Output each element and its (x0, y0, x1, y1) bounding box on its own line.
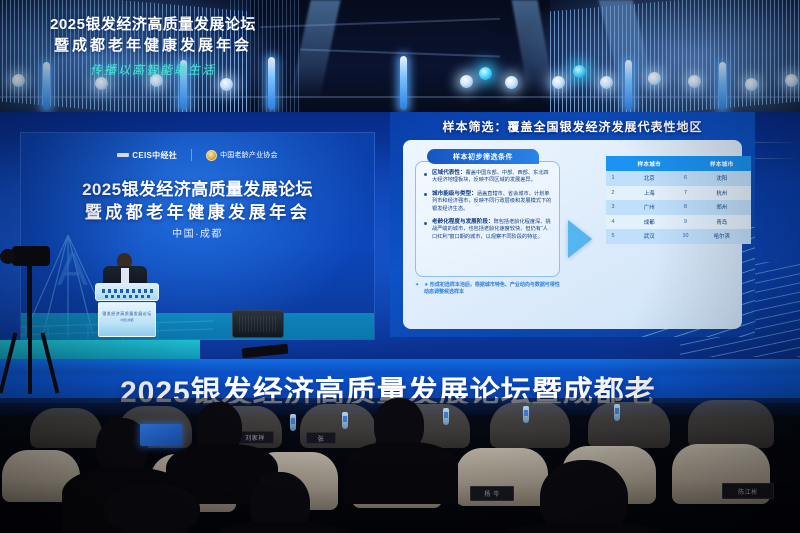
chair (30, 408, 102, 448)
table-row: 2 上海 7 杭州 (606, 186, 751, 201)
conference-hall-photo: 2025银发经济高质量发展论坛 暨成都老年健康发展年会 传播以高智能助生活 A … (0, 0, 800, 533)
association-logo-text: 中国老龄产业协会 (220, 150, 278, 160)
camera-lens-icon (0, 249, 16, 264)
criteria-term: 区域代表性： (432, 170, 466, 176)
nameplate-text: 刘家祥 (245, 433, 265, 442)
hanging-banner: 2025银发经济高质量发展论坛 暨成都老年健康发展年会 传播以高智能助生活 (28, 8, 278, 86)
stage-monitor-speaker (232, 310, 284, 338)
row-city-right: 哈尔滨 (693, 229, 752, 244)
podium-top-panel (95, 283, 159, 301)
podium-top-text (102, 289, 154, 293)
table-col-index-1 (606, 156, 620, 171)
criteria-term: 城市能级与类型： (432, 191, 477, 197)
criteria-panel-header-text: 样本初步筛选条件 (453, 152, 513, 162)
table-row: 5 武汉 10 哈尔滨 (606, 229, 751, 244)
screen-logo-row: CEIS中经社 中国老龄产业协会 (21, 147, 374, 163)
row-city-left: 上海 (620, 186, 679, 201)
podium-label: 银发经济高质量发展论坛 (99, 311, 155, 317)
stage-spotlight (648, 72, 661, 85)
left-screen-title-line1: 2025银发经济高质量发展论坛 (21, 175, 374, 200)
row-index-left: 4 (606, 215, 620, 230)
row-index-left: 1 (606, 171, 620, 186)
chair (490, 402, 570, 448)
row-index-right: 9 (679, 215, 693, 230)
nameplate: 杨 岑 (470, 486, 514, 501)
association-seal-icon (206, 150, 217, 161)
nameplate: 张 (306, 432, 336, 444)
row-city-left: 成都 (620, 215, 679, 230)
stage-spotlight (12, 74, 25, 87)
criteria-item: 区域代表性：覆盖中国东部、中部、西部、东北四大经济地理板块，反映不同区域的发展差… (423, 170, 552, 185)
table-header: 样本城市 样本城市 (606, 156, 751, 171)
stage-spotlight (552, 76, 565, 89)
row-city-right: 杭州 (693, 186, 752, 201)
logo-divider (191, 149, 192, 161)
chair (588, 402, 670, 448)
row-index-right: 10 (679, 229, 693, 244)
criteria-item: 城市能级与类型：涵盖直辖市、省会城市、计划单列市和经济强市，反映不同行政层级和发… (423, 191, 552, 213)
hanging-banner-line3: 传播以高智能助生活 (28, 61, 278, 78)
tripod-leg (28, 332, 32, 394)
water-bottle (523, 406, 529, 423)
row-city-left: 武汉 (620, 229, 679, 244)
row-index-left: 5 (606, 229, 620, 244)
table-col-index-2 (679, 156, 693, 171)
row-city-right: 青岛 (693, 215, 752, 230)
row-index-left: 3 (606, 200, 620, 215)
left-screen-title-line2: 暨成都老年健康发展年会 (21, 198, 374, 223)
left-screen-bottom-band (21, 313, 374, 339)
left-screen-location: 中国·成都 (21, 225, 374, 240)
water-bottle (342, 412, 348, 429)
audience-shoulders (212, 522, 352, 533)
video-camera-rig (0, 236, 64, 396)
audience-shoulders (500, 522, 670, 533)
table-header-row: 样本城市 样本城市 (606, 156, 751, 171)
audience-seating-area: 刘家祥 张 张 岑 陈江彬 杨 岑 (0, 398, 800, 533)
stage-spotlight (745, 78, 758, 91)
camera-body (12, 246, 50, 266)
stage-spotlight (785, 74, 798, 87)
criteria-footnote: ★ 形成初选样本池后，根据城市特色、产业动向与数据可得性动态调整候选样本 (415, 282, 560, 296)
nameplate-text: 陈江彬 (738, 487, 758, 496)
led-tube-light (625, 60, 632, 110)
slide-title: 样本筛选：覆盖全国银发经济发展代表性地区 (390, 118, 755, 135)
row-index-right: 7 (679, 186, 693, 201)
table-col-city-2: 样本城市 (693, 156, 752, 171)
ceis-logo-icon: CEIS中经社 (117, 150, 177, 161)
row-index-right: 8 (679, 200, 693, 215)
tripod-leg (0, 332, 17, 393)
audience-head (104, 484, 200, 533)
water-bottle (614, 404, 620, 421)
row-city-left: 广州 (620, 200, 679, 215)
led-tube-light (400, 56, 407, 110)
row-city-left: 北京 (620, 171, 679, 186)
podium-with-speaker: 银发经济高质量发展论坛 中国·成都 (95, 255, 159, 337)
ceiling-area: 2025银发经济高质量发展论坛 暨成都老年健康发展年会 传播以高智能助生活 (0, 0, 800, 112)
tripod-column (27, 264, 32, 338)
criteria-list: 区域代表性：覆盖中国东部、中部、西部、东北四大经济地理板块，反映不同区域的发展差… (415, 161, 560, 277)
podium-top-text-2 (105, 295, 151, 298)
nameplate-text: 杨 岑 (484, 489, 499, 498)
speaker-shirt (121, 268, 129, 284)
row-city-right: 郑州 (693, 200, 752, 215)
row-city-right: 沈阳 (693, 171, 752, 186)
table-row: 1 北京 6 沈阳 (606, 171, 751, 186)
audience-shoulders (344, 442, 458, 504)
tripod-leg (41, 332, 60, 393)
nameplate-text: 张 (318, 434, 325, 443)
smartphone-screen (140, 424, 182, 446)
stage-spotlight (479, 67, 492, 80)
podium-front-panel: 银发经济高质量发展论坛 中国·成都 (98, 302, 156, 337)
stage-spotlight (688, 75, 701, 88)
table-row: 4 成都 9 青岛 (606, 215, 751, 230)
nameplate: 陈江彬 (722, 483, 774, 499)
ceis-logo-text: CEIS中经社 (132, 150, 177, 161)
table-body: 1 北京 6 沈阳 2 上海 7 杭州 3 广州 8 (606, 171, 751, 244)
water-bottle (290, 414, 296, 431)
row-index-right: 6 (679, 171, 693, 186)
stage-spotlight (505, 76, 518, 89)
stage-spotlight (460, 75, 473, 88)
hanging-banner-line2: 暨成都老年健康发展年会 (28, 35, 278, 57)
hanging-banner-line1: 2025银发经济高质量发展论坛 (28, 15, 278, 35)
water-bottle (443, 408, 449, 425)
sample-cities-table: 样本城市 样本城市 1 北京 6 沈阳 2 上海 7 (606, 156, 751, 244)
arrow-right-icon (568, 220, 592, 258)
slide-content-card: 样本初步筛选条件 区域代表性：覆盖中国东部、中部、西部、东北四大经济地理板块，反… (403, 140, 742, 329)
association-logo-icon: 中国老龄产业协会 (206, 150, 278, 161)
stage-spotlight (600, 76, 613, 89)
podium-sublabel: 中国·成都 (99, 318, 155, 322)
row-index-left: 2 (606, 186, 620, 201)
ceis-logo-mark (117, 153, 129, 157)
criteria-term: 老龄化程度与发展阶段： (432, 219, 494, 225)
table-row: 3 广州 8 郑州 (606, 200, 751, 215)
table-col-city-1: 样本城市 (620, 156, 679, 171)
led-tube-light (719, 62, 726, 110)
right-projection-screen: 样本筛选：覆盖全国银发经济发展代表性地区 样本初步筛选条件 区域代表性：覆盖中国… (390, 112, 755, 337)
stage-spotlight (573, 65, 586, 78)
criteria-item: 老龄化程度与发展阶段：既包括老龄化程度深、挑战严峻的城市，也包括老龄化速度较快、… (423, 219, 552, 241)
left-projection-screen: A CEIS中经社 中国老龄产业协会 2025银发经济高质量发展论坛 暨成都老年… (20, 132, 375, 340)
chair (688, 400, 774, 448)
criteria-panel: 样本初步筛选条件 区域代表性：覆盖中国东部、中部、西部、东北四大经济地理板块，反… (415, 149, 560, 296)
criteria-panel-header: 样本初步筛选条件 (427, 149, 539, 164)
